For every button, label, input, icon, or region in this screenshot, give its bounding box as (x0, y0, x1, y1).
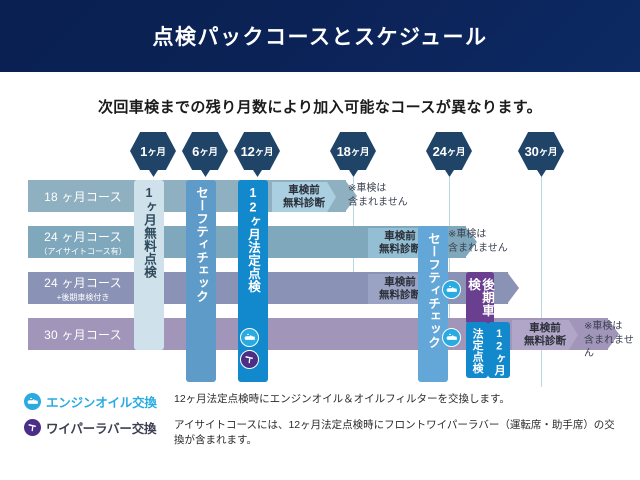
marker-pointer (445, 170, 454, 177)
marker-unit: ヶ月 (147, 144, 166, 158)
pre-inspection-chip: 車検前無料診断 (272, 182, 336, 212)
exclusion-note: ※車検は 含まれません (448, 228, 508, 255)
service-column-label: 1ヶ月無料点検 (142, 186, 156, 279)
marker-pointer (149, 170, 158, 177)
timeline-marker-18month: 18ヶ月 (330, 132, 376, 170)
service-column-label: 後期車検 (466, 278, 494, 324)
service-column-12ヶ月: 12ヶ月 (488, 322, 510, 378)
exclusion-note: ※車検は 含まれません (348, 182, 408, 209)
course-label-main: 30 ヶ月コース (44, 326, 122, 343)
service-column-label: セーフティチェック (194, 186, 208, 303)
marker-pointer (537, 170, 546, 177)
legend-item: ワイパーラバー交換 アイサイトコースには、12ヶ月法定点検時にフロントワイパーラ… (24, 418, 624, 448)
course-label-main: 24 ヶ月コース (44, 274, 122, 291)
marker-number: 1 (140, 144, 147, 159)
marker-pointer (253, 170, 262, 177)
legend-item-description: 12ヶ月法定点検時にエンジンオイル＆オイルフィルターを交換します。 (174, 392, 624, 407)
chip-line: 車検前 (384, 230, 416, 243)
marker-number: 30 (525, 144, 539, 159)
inspection-schedule-page: 点検パックコースとスケジュール 次回車検までの残り月数により加入可能なコースが異… (0, 0, 640, 480)
pre-inspection-chip: 車検前無料診断 (512, 320, 578, 350)
marker-unit: ヶ月 (539, 144, 558, 158)
oil-can-icon (442, 328, 461, 347)
service-column-後期車検: 後期車検 (466, 272, 494, 324)
wiper-icon (24, 419, 41, 436)
exclusion-note: ※車検は 含まれません (584, 320, 640, 361)
service-column-label: 12ヶ月 (493, 328, 505, 376)
course-label: 24 ヶ月コース（アイサイトコース有） (28, 226, 138, 258)
timeline-marker-12month: 12ヶ月 (234, 132, 280, 170)
timeline-marker-24month: 24ヶ月 (426, 132, 472, 170)
marker-number: 6 (192, 144, 199, 159)
course-label: 30 ヶ月コース (28, 318, 138, 350)
legend-item: エンジンオイル交換 12ヶ月法定点検時にエンジンオイル＆オイルフィルターを交換し… (24, 392, 624, 411)
legend: エンジンオイル交換 12ヶ月法定点検時にエンジンオイル＆オイルフィルターを交換し… (24, 392, 624, 455)
course-label: 24 ヶ月コース+後期車検付き (28, 272, 138, 304)
service-column-label: 法定点検 (471, 328, 483, 374)
chip-line: 無料診断 (379, 243, 421, 256)
course-label-sub: +後期車検付き (57, 292, 110, 303)
chip-line: 無料診断 (283, 197, 325, 210)
page-subtitle: 次回車検までの残り月数により加入可能なコースが異なります。 (0, 96, 640, 117)
timeline-marker-30month: 30ヶ月 (518, 132, 564, 170)
marker-unit: ヶ月 (255, 144, 274, 158)
page-title: 点検パックコースとスケジュール (0, 0, 640, 72)
course-label-main: 18 ヶ月コース (44, 188, 122, 205)
marker-number: 12 (241, 144, 255, 159)
schedule-diagram: 18 ヶ月コース24 ヶ月コース（アイサイトコース有）24 ヶ月コース+後期車検… (0, 132, 640, 382)
timeline-guide (541, 177, 542, 387)
marker-unit: ヶ月 (199, 144, 218, 158)
chip-line: 無料診断 (524, 335, 566, 348)
course-label-main: 24 ヶ月コース (44, 228, 122, 245)
oil-can-icon (24, 393, 41, 410)
oil-can-icon (240, 328, 259, 347)
service-column-法定点検: 法定点検 (466, 322, 488, 378)
chip-line: 車検前 (288, 184, 320, 197)
course-label-sub: （アイサイトコース有） (39, 246, 126, 257)
timeline-marker-6month: 6ヶ月 (182, 132, 228, 170)
service-column-セーフティチェック2: セーフティチェック (418, 226, 448, 382)
service-column-label: セーフティチェック (426, 232, 440, 349)
chip-line: 無料診断 (379, 289, 421, 302)
service-column-label: 12ヶ月法定点検 (246, 186, 260, 293)
marker-number: 18 (337, 144, 351, 159)
timeline-marker-1month: 1ヶ月 (130, 132, 176, 170)
legend-item-description: アイサイトコースには、12ヶ月法定点検時にフロントワイパーラバー（運転席・助手席… (174, 418, 624, 448)
marker-unit: ヶ月 (447, 144, 466, 158)
wiper-icon (240, 350, 259, 369)
chip-line: 車検前 (384, 276, 416, 289)
marker-pointer (349, 170, 358, 177)
page-header: 点検パックコースとスケジュール (0, 0, 640, 72)
legend-item-name: ワイパーラバー交換 (46, 418, 174, 437)
marker-number: 24 (433, 144, 447, 159)
course-label: 18 ヶ月コース (28, 180, 138, 212)
chip-line: 車検前 (529, 322, 561, 335)
service-column-セーフティチェック1: セーフティチェック (186, 180, 216, 382)
marker-unit: ヶ月 (351, 144, 370, 158)
service-column-1ヶ月無料点検: 1ヶ月無料点検 (134, 180, 164, 350)
marker-pointer (201, 170, 210, 177)
oil-can-icon (442, 280, 461, 299)
legend-item-name: エンジンオイル交換 (46, 392, 174, 411)
course-row-arrow (507, 272, 519, 304)
